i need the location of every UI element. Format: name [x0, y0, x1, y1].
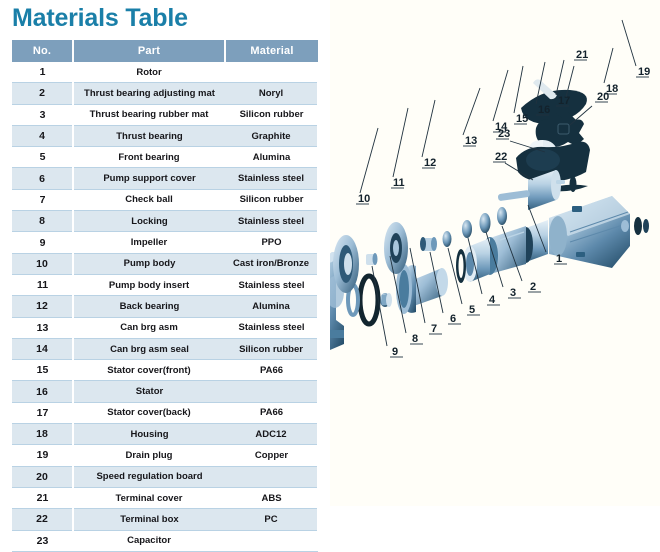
row-no: 19: [12, 445, 73, 466]
leader-line-10: [360, 128, 378, 193]
row-no: 15: [12, 360, 73, 381]
callout-17: 17: [556, 60, 570, 107]
row-material: [225, 62, 318, 83]
table-row: 9ImpellerPPO: [12, 232, 318, 253]
row-material: PPO: [225, 232, 318, 253]
row-no: 9: [12, 232, 73, 253]
row-part: Capacitor: [73, 530, 225, 551]
row-no: 10: [12, 253, 73, 274]
row-part: Thrust bearing: [73, 125, 225, 146]
materials-table-page: 1234567891011121314151617181920212223 Ma…: [0, 0, 660, 532]
row-material: Noryl: [225, 83, 318, 104]
callout-11: 11: [391, 108, 408, 189]
row-part: Stator cover(back): [73, 402, 225, 423]
row-part: Stator cover(front): [73, 360, 225, 381]
row-material: Graphite: [225, 125, 318, 146]
row-no: 22: [12, 509, 73, 530]
table-row: 19Drain plugCopper: [12, 445, 318, 466]
callout-number-3: 3: [510, 287, 516, 299]
part-14-can-brg-asm-seal: [456, 249, 466, 283]
exploded-pump-diagram: 1234567891011121314151617181920212223: [330, 0, 660, 506]
table-header-row: No. Part Material: [12, 40, 318, 62]
callout-number-12: 12: [424, 157, 436, 169]
row-part: Pump body: [73, 253, 225, 274]
callout-number-19: 19: [638, 66, 650, 78]
callout-number-7: 7: [431, 323, 437, 335]
table-row: 23Capacitor: [12, 530, 318, 551]
row-material: ADC12: [225, 424, 318, 445]
callout-number-16: 16: [538, 104, 550, 116]
row-no: 20: [12, 466, 73, 487]
row-part: Pump body insert: [73, 274, 225, 295]
row-no: 4: [12, 125, 73, 146]
part-6-locking: [420, 237, 437, 251]
callout-number-8: 8: [412, 333, 418, 345]
callout-number-13: 13: [465, 135, 477, 147]
row-material: Alumina: [225, 147, 318, 168]
row-material: PA66: [225, 402, 318, 423]
table-row: 3Thrust bearing rubber matSilicon rubber: [12, 104, 318, 125]
column-header-no: No.: [12, 40, 73, 62]
leader-line-19: [622, 20, 636, 66]
row-part: Locking: [73, 211, 225, 232]
table-row: 6Pump support coverStainless steel: [12, 168, 318, 189]
callout-number-23: 23: [498, 128, 510, 140]
row-no: 8: [12, 211, 73, 232]
row-part: Terminal box: [73, 509, 225, 530]
row-no: 21: [12, 487, 73, 508]
callout-number-4: 4: [489, 294, 496, 306]
row-material: Silicon rubber: [225, 189, 318, 210]
table-row: 12Back bearingAlumina: [12, 296, 318, 317]
part-2-thrust-bearing-adjusting-mat: [497, 207, 507, 225]
row-material: Stainless steel: [225, 274, 318, 295]
row-no: 12: [12, 296, 73, 317]
row-no: 14: [12, 338, 73, 359]
row-part: Thrust bearing adjusting mat: [73, 83, 225, 104]
row-material: Copper: [225, 445, 318, 466]
row-part: Can brg asm: [73, 317, 225, 338]
callout-number-9: 9: [392, 346, 398, 358]
callout-number-20: 20: [597, 91, 609, 103]
part-5-front-bearing: [443, 231, 452, 247]
row-material: Stainless steel: [225, 211, 318, 232]
callout-number-5: 5: [469, 304, 475, 316]
row-no: 7: [12, 189, 73, 210]
row-material: [225, 466, 318, 487]
callout-19: 19: [622, 20, 650, 78]
row-part: Speed regulation board: [73, 466, 225, 487]
table-row: 4Thrust bearingGraphite: [12, 125, 318, 146]
row-material: [225, 381, 318, 402]
part-4-thrust-bearing: [462, 220, 472, 238]
table-row: 10Pump bodyCast iron/Bronze: [12, 253, 318, 274]
callout-14: 14: [493, 70, 508, 133]
table-row: 1Rotor: [12, 62, 318, 83]
row-part: Can brg asm seal: [73, 338, 225, 359]
table-row: 11Pump body insertStainless steel: [12, 274, 318, 295]
table-row: 15Stator cover(front)PA66: [12, 360, 318, 381]
callout-18: 18: [604, 48, 618, 95]
leader-line-12: [422, 100, 435, 157]
leader-line-18: [604, 48, 613, 83]
table-row: 14Can brg asm sealSilicon rubber: [12, 338, 318, 359]
diagram-panel: 1234567891011121314151617181920212223: [330, 0, 660, 506]
table-row: 5Front bearingAlumina: [12, 147, 318, 168]
table-row: 2Thrust bearing adjusting matNoryl: [12, 83, 318, 104]
callout-number-17: 17: [558, 95, 570, 107]
callout-number-10: 10: [358, 193, 370, 205]
row-material: [225, 530, 318, 551]
callout-number-1: 1: [556, 253, 562, 265]
row-material: Stainless steel: [225, 168, 318, 189]
callout-12: 12: [422, 100, 436, 169]
callout-number-2: 2: [530, 281, 536, 293]
row-material: ABS: [225, 487, 318, 508]
table-row: 18HousingADC12: [12, 424, 318, 445]
callout-21: 21: [566, 49, 588, 97]
table-row: 13Can brg asmStainless steel: [12, 317, 318, 338]
row-no: 11: [12, 274, 73, 295]
row-no: 2: [12, 83, 73, 104]
row-part: Thrust bearing rubber mat: [73, 104, 225, 125]
row-no: 1: [12, 62, 73, 83]
row-material: PA66: [225, 360, 318, 381]
callout-number-11: 11: [393, 177, 405, 189]
part-12-back-bearing: [380, 293, 392, 307]
row-part: Terminal cover: [73, 487, 225, 508]
row-no: 23: [12, 530, 73, 551]
leader-line-17: [556, 60, 564, 95]
table-row: 20Speed regulation board: [12, 466, 318, 487]
row-no: 5: [12, 147, 73, 168]
row-no: 3: [12, 104, 73, 125]
part-3-thrust-bearing-rubber-mat: [480, 213, 491, 233]
row-no: 16: [12, 381, 73, 402]
row-no: 6: [12, 168, 73, 189]
callout-10: 10: [356, 128, 378, 205]
table-row: 17Stator cover(back)PA66: [12, 402, 318, 423]
callout-number-22: 22: [495, 151, 507, 163]
row-part: Impeller: [73, 232, 225, 253]
row-material: PC: [225, 509, 318, 530]
row-part: Front bearing: [73, 147, 225, 168]
callout-number-21: 21: [576, 49, 588, 61]
table-row: 16Stator: [12, 381, 318, 402]
leader-line-11: [393, 108, 408, 177]
part-9-impeller: [333, 235, 359, 293]
leader-line-13: [463, 88, 480, 135]
row-material: Alumina: [225, 296, 318, 317]
callout-15: 15: [514, 66, 528, 125]
row-part: Check ball: [73, 189, 225, 210]
column-header-part: Part: [73, 40, 225, 62]
leader-line-14: [493, 70, 508, 121]
row-no: 13: [12, 317, 73, 338]
callout-number-6: 6: [450, 313, 456, 325]
leader-line-15: [514, 66, 523, 113]
part-8-locking-ring: [366, 253, 378, 265]
table-row: 7Check ballSilicon rubber: [12, 189, 318, 210]
row-part: Back bearing: [73, 296, 225, 317]
part-15-stator-cover-front: [463, 238, 490, 282]
callout-13: 13: [463, 88, 480, 147]
row-material: Silicon rubber: [225, 104, 318, 125]
row-no: 17: [12, 402, 73, 423]
row-part: Pump support cover: [73, 168, 225, 189]
table-row: 8LockingStainless steel: [12, 211, 318, 232]
row-part: Drain plug: [73, 445, 225, 466]
row-part: Rotor: [73, 62, 225, 83]
row-material: Silicon rubber: [225, 338, 318, 359]
page-title: Materials Table: [12, 4, 188, 33]
row-material: Cast iron/Bronze: [225, 253, 318, 274]
part-7-check-ball: [384, 222, 408, 274]
row-material: Stainless steel: [225, 317, 318, 338]
callout-number-15: 15: [516, 113, 528, 125]
row-part: Housing: [73, 424, 225, 445]
table-row: 21Terminal coverABS: [12, 487, 318, 508]
materials-table: No. Part Material 1Rotor2Thrust bearing …: [12, 40, 319, 552]
column-header-material: Material: [225, 40, 318, 62]
table-body: 1Rotor2Thrust bearing adjusting matNoryl…: [12, 62, 318, 551]
row-no: 18: [12, 424, 73, 445]
table-row: 22Terminal boxPC: [12, 509, 318, 530]
row-part: Stator: [73, 381, 225, 402]
